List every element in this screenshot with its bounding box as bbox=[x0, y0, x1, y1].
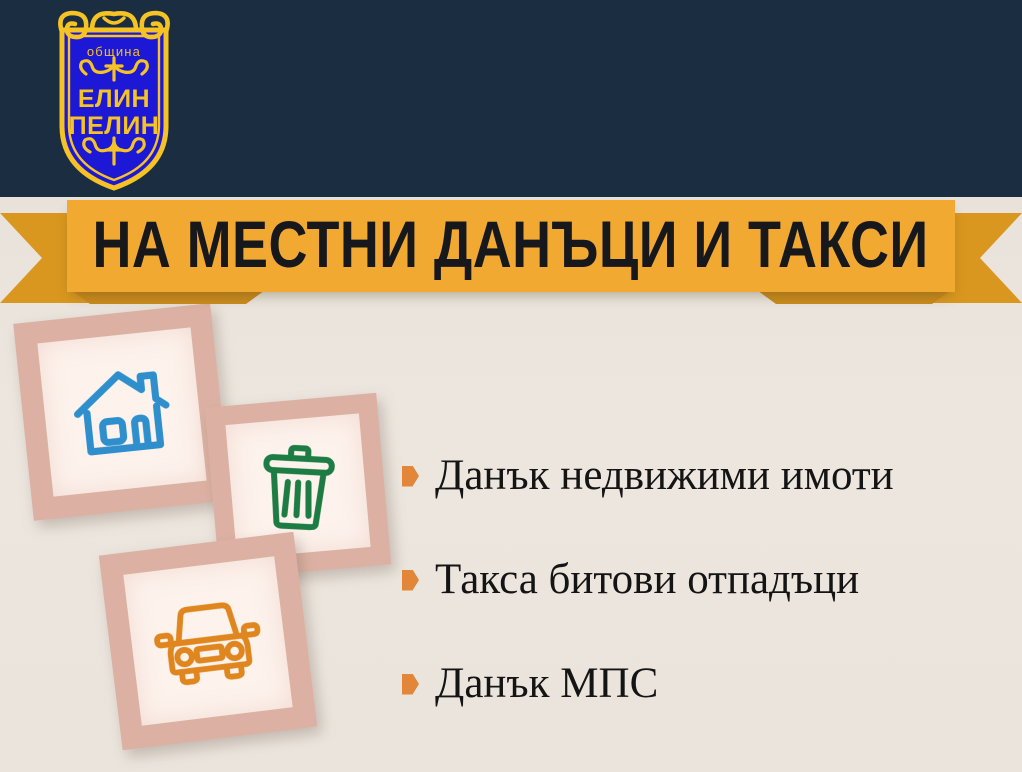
trash-bin-icon bbox=[251, 437, 345, 534]
list-item-label: Данък недвижими имоти bbox=[435, 453, 894, 498]
list-item-label: Данък МПС bbox=[435, 661, 658, 706]
car-icon bbox=[149, 593, 266, 689]
stamp-paper-vehicle bbox=[123, 556, 292, 725]
bullet-arrow-icon bbox=[402, 570, 419, 591]
list-item[interactable]: Данък МПС bbox=[402, 632, 1012, 736]
list-item-label: Такса битови отпадъци bbox=[435, 557, 859, 602]
stamp-card-property bbox=[13, 303, 231, 521]
ribbon-main-panel: НА МЕСТНИ ДАНЪЦИ И ТАКСИ bbox=[67, 200, 955, 292]
poster-canvas: ПРОВЕРКА И ПЛАЩАНЕ НА ЗАДЪЛЖЕНИЯ община bbox=[0, 0, 1022, 772]
list-item[interactable]: Данък недвижими имоти bbox=[402, 424, 1012, 528]
list-item[interactable]: Такса битови отпадъци bbox=[402, 528, 1012, 632]
stamp-paper-property bbox=[37, 327, 206, 496]
logo-name-line-1: ЕЛИН bbox=[78, 85, 150, 113]
logo-name-line-2: ПЕЛИН bbox=[69, 112, 160, 140]
tax-types-list: Данък недвижими имоти Такса битови отпад… bbox=[402, 424, 1012, 736]
stamp-card-vehicle bbox=[99, 532, 317, 750]
coat-of-arms-icon: община ЕЛИН ПЕЛИН bbox=[34, 8, 194, 194]
bullet-arrow-icon bbox=[402, 466, 419, 487]
bullet-arrow-icon bbox=[402, 674, 419, 695]
municipality-logo: община ЕЛИН ПЕЛИН bbox=[34, 8, 194, 194]
house-icon bbox=[65, 359, 178, 464]
ribbon-banner: НА МЕСТНИ ДАНЪЦИ И ТАКСИ bbox=[0, 196, 1022, 308]
ribbon-label: НА МЕСТНИ ДАНЪЦИ И ТАКСИ bbox=[93, 213, 929, 279]
